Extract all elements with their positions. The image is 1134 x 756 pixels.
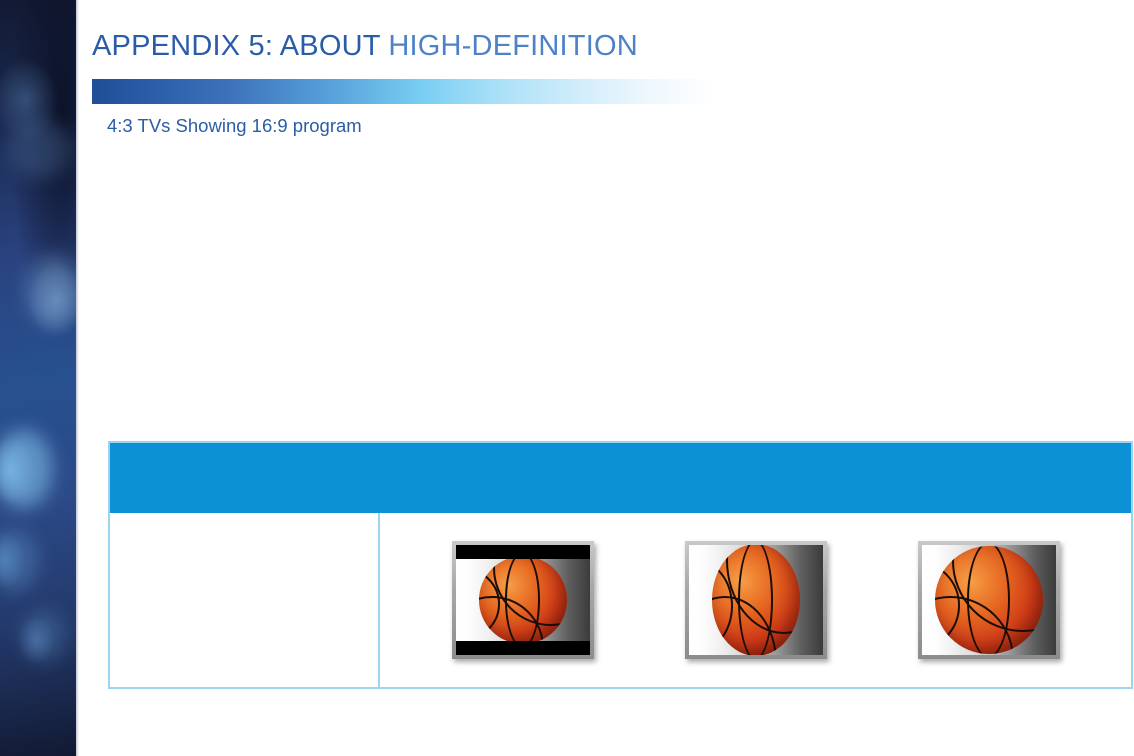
sidebar-glow-blob <box>0 530 38 592</box>
tv-screen <box>456 545 590 655</box>
page-title-accent: HIGH-DEFINITION <box>388 30 638 62</box>
table-header-row <box>110 443 1131 513</box>
page-title-main: APPENDIX 5: ABOUT <box>92 30 388 62</box>
title-gradient-rule <box>92 79 714 104</box>
sidebar-glow-blob <box>22 610 66 662</box>
tv-stretch <box>685 541 827 659</box>
tv-screen <box>689 545 823 655</box>
tv-picture <box>922 545 1056 655</box>
sidebar-edge-shadow <box>76 0 79 756</box>
basketball-shape <box>935 546 1043 654</box>
basketball-icon <box>479 559 567 641</box>
tv-picture <box>456 559 590 641</box>
basketball-shape <box>479 559 567 641</box>
table-row-label-cell <box>110 513 380 687</box>
comparison-table <box>108 441 1133 689</box>
basketball-shape <box>712 545 800 655</box>
tv-letterbox <box>452 541 594 659</box>
sidebar-glow-blob <box>26 255 76 327</box>
tv-zoom <box>918 541 1060 659</box>
basketball-icon <box>935 546 1043 654</box>
slide-subtitle: 4:3 TVs Showing 16:9 program <box>107 115 362 137</box>
tv-screen <box>922 545 1056 655</box>
basketball-icon <box>712 545 800 655</box>
sidebar-glow-blob <box>10 120 72 178</box>
sidebar-decoration <box>0 0 76 756</box>
page-title: APPENDIX 5: ABOUT HIGH-DEFINITION <box>92 29 638 63</box>
slide-canvas: APPENDIX 5: ABOUT HIGH-DEFINITION 4:3 TV… <box>0 0 1134 756</box>
table-row-tv-cell <box>380 513 1131 687</box>
tv-picture <box>689 545 823 655</box>
table-body-row <box>110 513 1131 687</box>
sidebar-glow-blob <box>0 430 52 508</box>
